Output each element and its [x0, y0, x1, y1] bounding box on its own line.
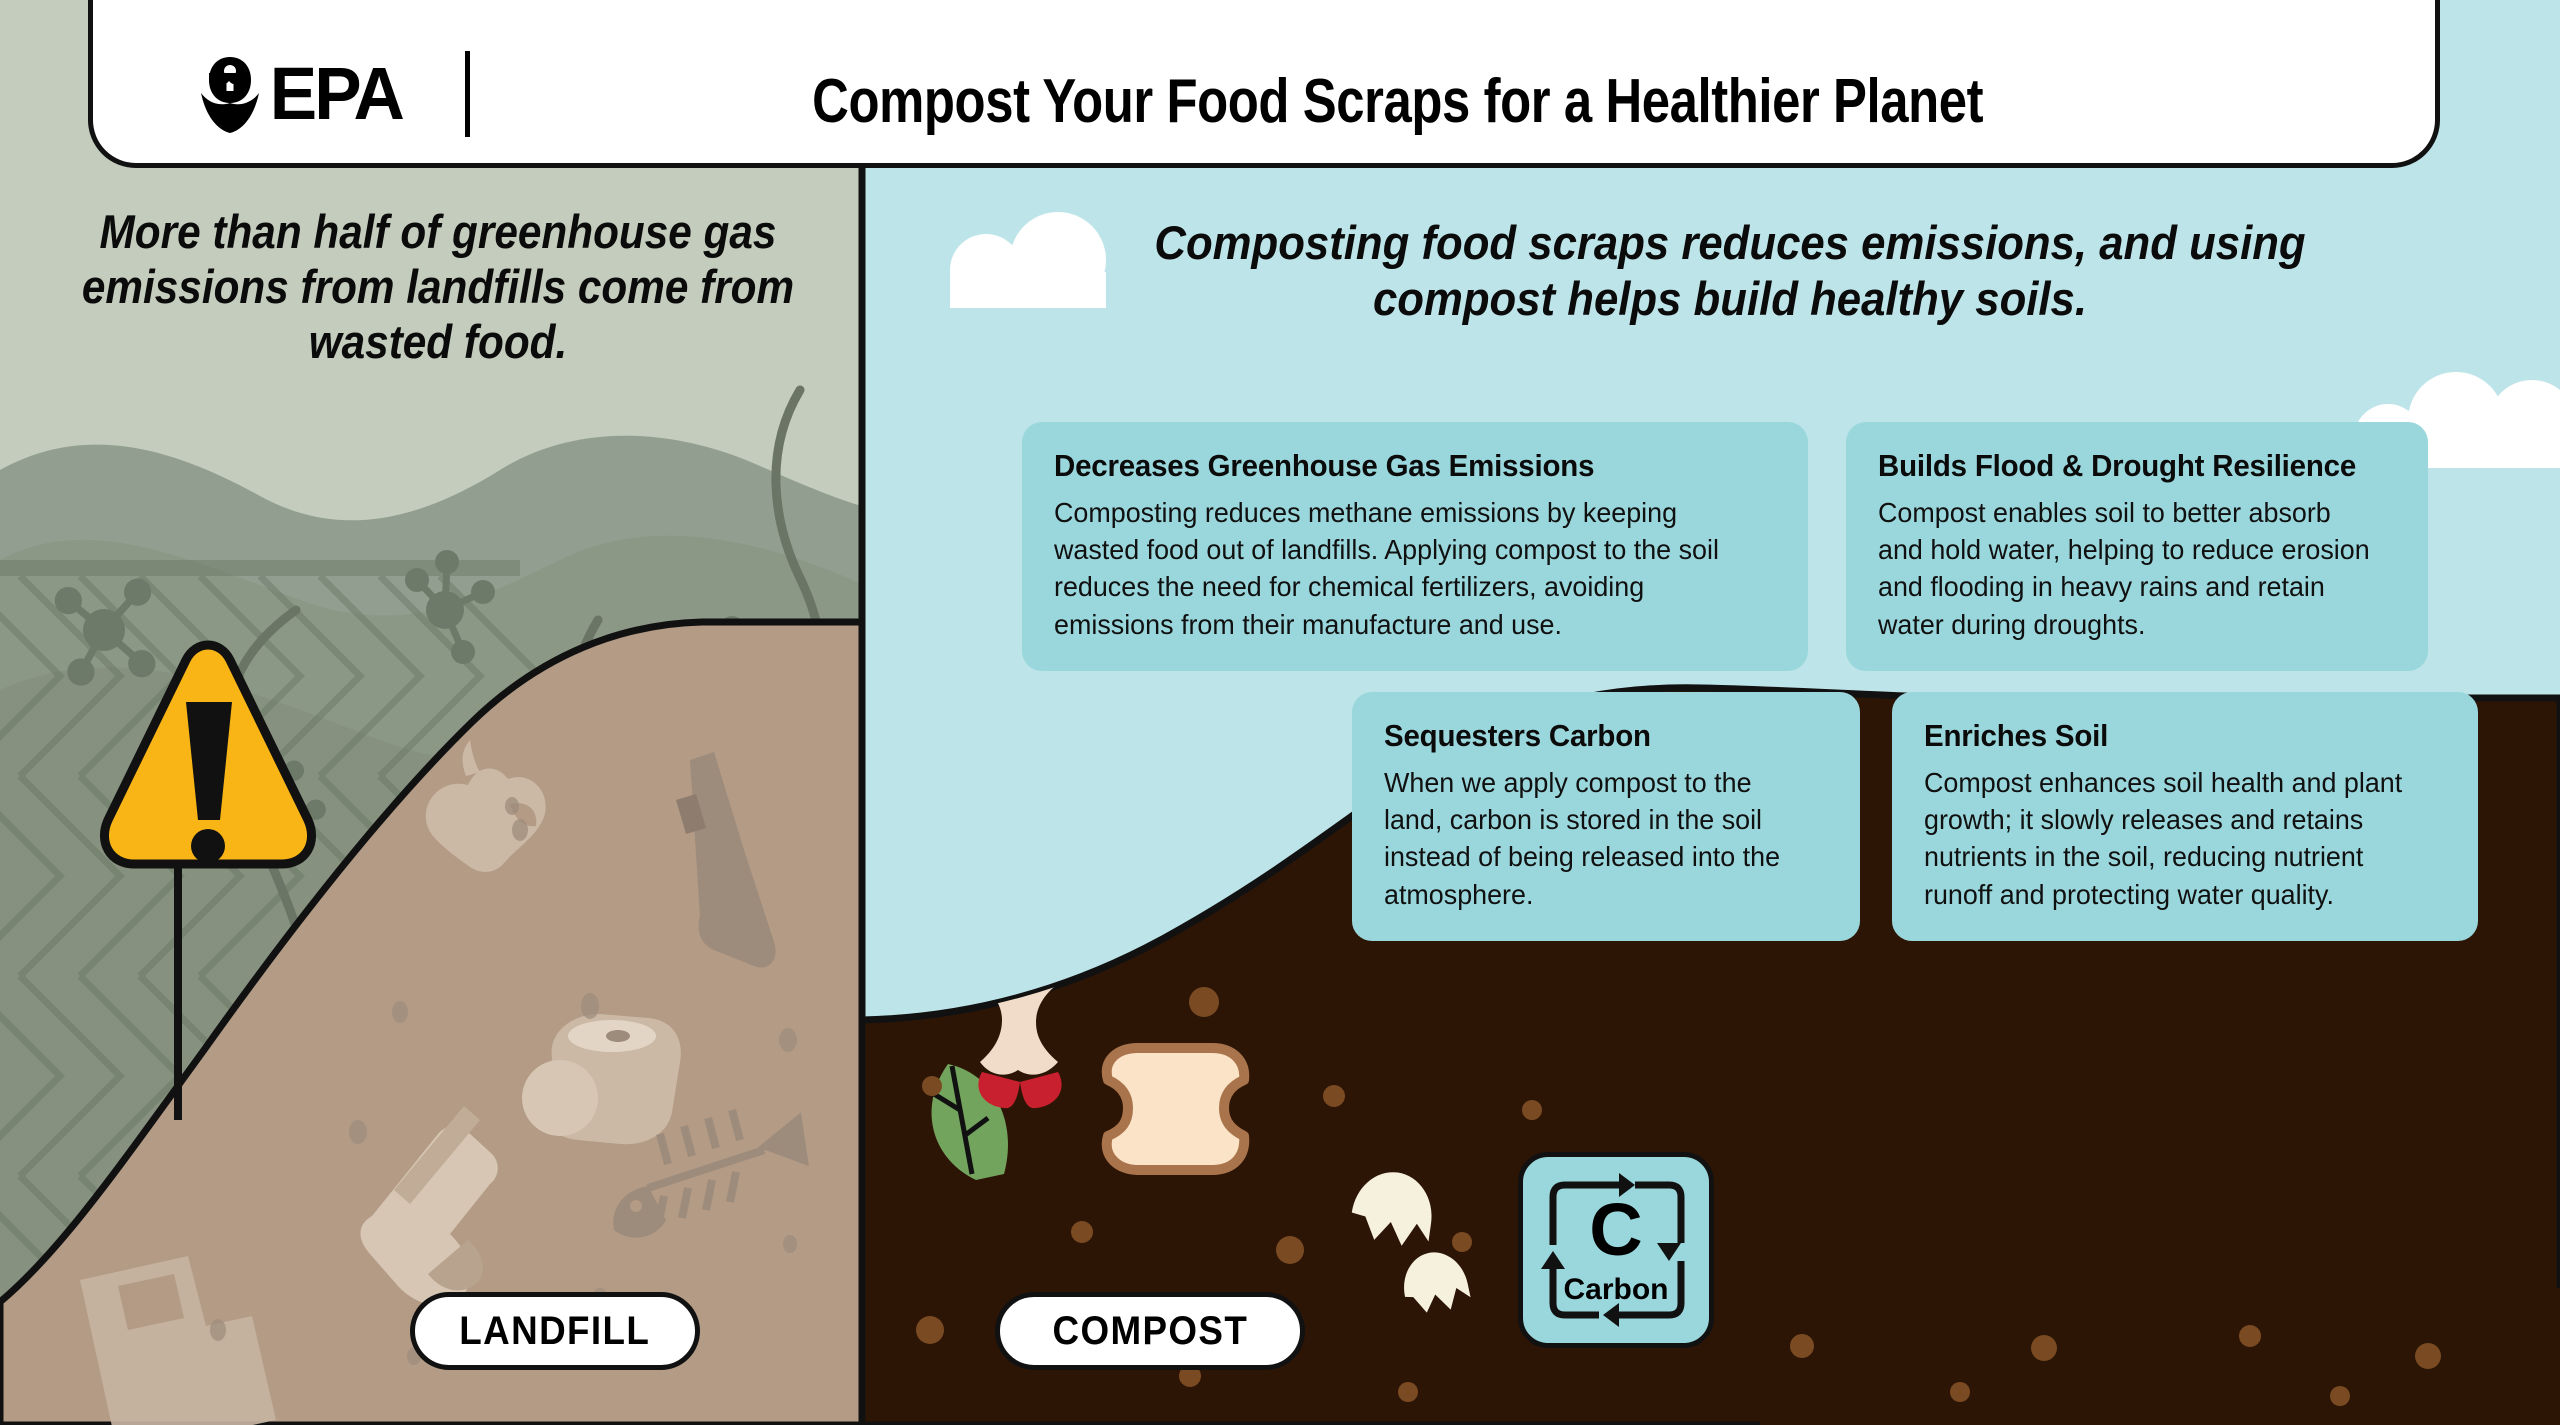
carbon-cycle-badge: C Carbon: [1518, 1152, 1714, 1348]
epa-seal-icon: [197, 55, 263, 133]
card-body: Compost enables soil to better absorb an…: [1878, 494, 2377, 643]
info-card-flood-drought: Builds Flood & Drought Resilience Compos…: [1846, 422, 2428, 671]
info-card-greenhouse-gas: Decreases Greenhouse Gas Emissions Compo…: [1022, 422, 1808, 671]
landfill-label-text: LANDFILL: [460, 1309, 651, 1354]
landfill-label: LANDFILL: [410, 1292, 700, 1370]
compost-label-text: COMPOST: [1052, 1309, 1248, 1354]
card-title: Builds Flood & Drought Resilience: [1878, 448, 2372, 484]
compost-headline: Composting food scraps reduces emissions…: [1070, 215, 2391, 328]
carbon-label: Carbon: [1523, 1273, 1709, 1307]
bread-slice-icon: [1107, 1048, 1244, 1170]
header-bar: EPA Compost Your Food Scraps for a Healt…: [88, 0, 2440, 168]
carbon-symbol: C: [1523, 1193, 1709, 1267]
card-title: Decreases Greenhouse Gas Emissions: [1054, 448, 1742, 484]
card-body: Composting reduces methane emissions by …: [1054, 494, 1749, 643]
card-title: Sequesters Carbon: [1384, 718, 1808, 754]
info-card-enriches-soil: Enriches Soil Compost enhances soil heal…: [1892, 692, 2478, 941]
epa-wordmark: EPA: [270, 65, 402, 123]
logo-divider: [465, 51, 470, 137]
card-body: When we apply compost to the land, carbo…: [1384, 764, 1812, 913]
page-title: Compost Your Food Scraps for a Healthier…: [686, 66, 2109, 137]
card-body: Compost enhances soil health and plant g…: [1924, 764, 2427, 913]
epa-logo: EPA: [197, 51, 530, 137]
card-title: Enriches Soil: [1924, 718, 2422, 754]
compost-label: COMPOST: [995, 1292, 1305, 1370]
infographic-canvas: EPA Compost Your Food Scraps for a Healt…: [0, 0, 2560, 1425]
info-card-sequesters-carbon: Sequesters Carbon When we apply compost …: [1352, 692, 1860, 941]
landfill-headline: More than half of greenhouse gas emissio…: [78, 205, 798, 370]
